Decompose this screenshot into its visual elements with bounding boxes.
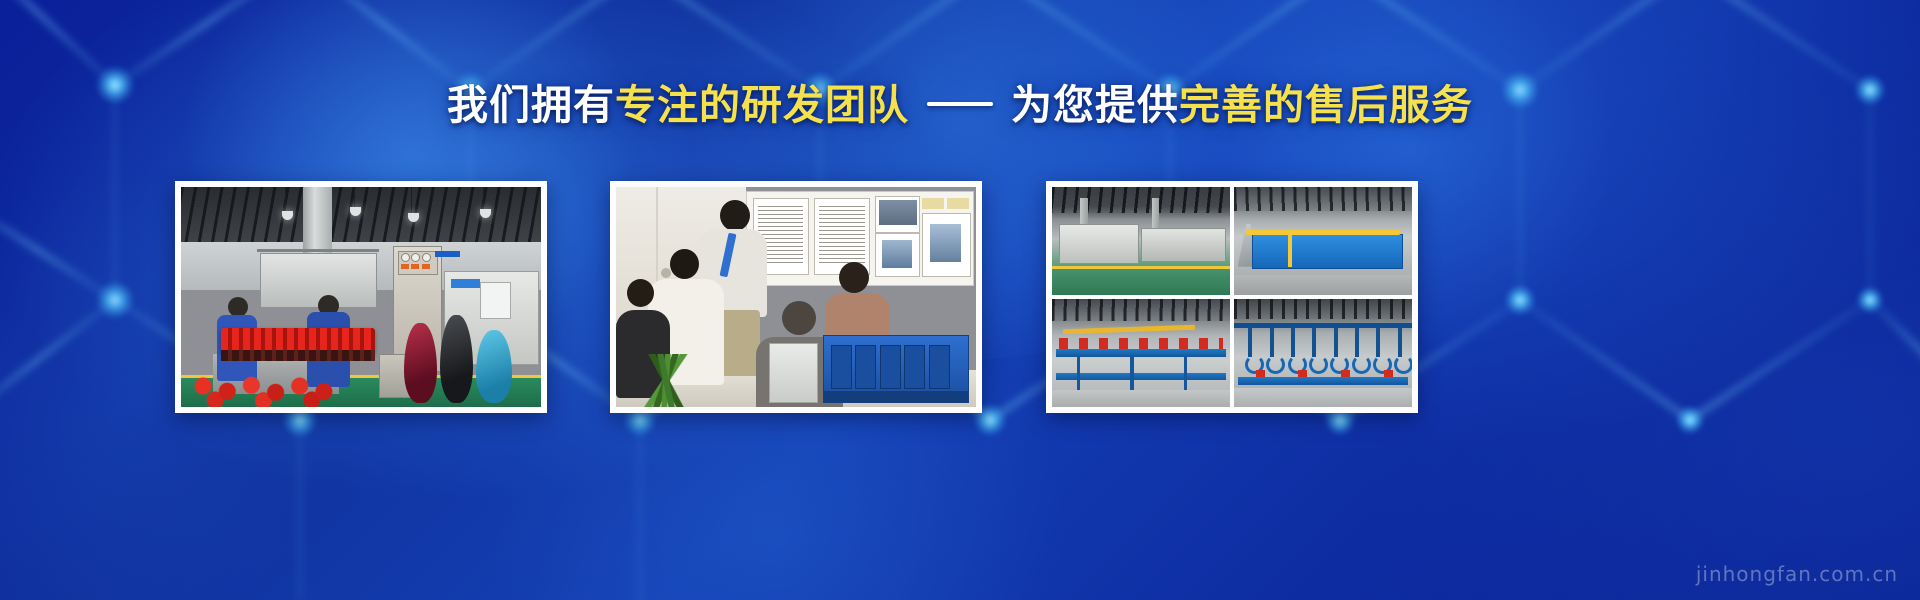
- yellow-pipe: [1245, 230, 1401, 235]
- conveyor-leg: [1130, 357, 1134, 394]
- photo-card-team-meeting: [610, 181, 982, 413]
- blue-process-tank: [1252, 234, 1403, 268]
- pane-hanging-racks: [1234, 299, 1412, 407]
- roof-truss: [1052, 187, 1230, 213]
- roof-truss: [1234, 187, 1412, 211]
- hanger-rod: [1312, 327, 1316, 357]
- poster-badge: [922, 198, 944, 209]
- conveyor-rail: [1238, 377, 1409, 386]
- person-head-back: [782, 301, 816, 335]
- promotional-banner: 我们拥有专注的研发团队为您提供完善的售后服务: [0, 0, 1920, 600]
- vase-sample-blue: [476, 330, 512, 403]
- pane-oven-line: [1052, 187, 1230, 295]
- yellow-pipe-riser: [1288, 230, 1292, 267]
- poster-text-lines: [819, 206, 864, 264]
- hanger-rod: [1398, 327, 1402, 357]
- photo-card-row: [0, 181, 1920, 413]
- oven-unit: [1059, 224, 1139, 265]
- diagram-figure: [882, 240, 912, 268]
- machine-bay: [831, 345, 852, 389]
- poster-photo: [879, 200, 917, 225]
- person-head-seated: [839, 262, 869, 293]
- photo-card-production-line: [175, 181, 547, 413]
- vase-sample-red: [404, 323, 436, 402]
- hook-icon: [1394, 355, 1412, 374]
- concrete-floor: [1052, 390, 1230, 407]
- conveyor-rail-upper: [1056, 349, 1227, 358]
- machine-base: [824, 391, 968, 402]
- banner-headline: 我们拥有专注的研发团队为您提供完善的售后服务: [0, 80, 1920, 131]
- diagram-figure: [930, 224, 961, 262]
- conveyor-leg: [1077, 357, 1081, 394]
- oven-unit: [1141, 228, 1227, 262]
- cabinet-label: [435, 251, 460, 258]
- oven-support-arm: [257, 249, 379, 252]
- red-spheres-pile: [188, 372, 339, 407]
- conveyor-rail-lower: [1056, 373, 1227, 381]
- pane-blue-tank: [1234, 187, 1412, 295]
- indicator-light: [422, 264, 430, 269]
- poster-diagram: [922, 213, 971, 277]
- hanger-rod: [1270, 327, 1274, 357]
- hook-icon: [1309, 355, 1328, 374]
- indicator-light: [411, 264, 419, 269]
- concrete-floor: [1234, 388, 1412, 407]
- headline-segment-4: 为您提供: [1011, 82, 1179, 128]
- green-floor: [1052, 267, 1230, 295]
- headline-segment-1: 我们拥有: [447, 82, 615, 128]
- pane-conveyor: [1052, 299, 1230, 407]
- hanger-rod: [1334, 327, 1338, 357]
- machine-bay: [880, 345, 901, 389]
- roof-truss: [1052, 299, 1230, 321]
- lamp-stem: [411, 187, 412, 213]
- hanger-rod: [1291, 327, 1295, 357]
- foreground-plant: [620, 354, 714, 407]
- overhead-beam: [1234, 323, 1412, 328]
- person-head-seated: [627, 279, 654, 307]
- machine-bay: [904, 345, 925, 389]
- lamp-stem: [354, 187, 355, 207]
- equipment-banner: [451, 279, 480, 288]
- photo-equipment-composite: [1052, 187, 1412, 407]
- blue-machine-photo: [823, 335, 969, 403]
- poster-badge: [947, 198, 969, 209]
- poster-image: [875, 196, 920, 233]
- parts-holder-row: [221, 350, 376, 361]
- lamp-stem: [483, 187, 484, 209]
- photo-card-equipment-composite: [1046, 181, 1418, 413]
- hanger-rod: [1355, 327, 1359, 357]
- vase-sample-black: [440, 315, 472, 403]
- person-head-seated: [670, 249, 699, 279]
- indicator-light: [401, 264, 409, 269]
- site-watermark: jinhongfan.com.cn: [1696, 562, 1898, 586]
- roof-truss: [1234, 299, 1412, 318]
- red-parts-on-line: [1059, 338, 1223, 349]
- headline-segment-5: 完善的售后服务: [1179, 82, 1473, 128]
- lamp-stem: [285, 187, 286, 211]
- headline-dash-divider: [927, 102, 993, 106]
- hook-icon: [1352, 355, 1371, 374]
- composite-divider-horizontal: [1052, 295, 1412, 299]
- poster-diagram: [875, 233, 920, 277]
- hanger-rod: [1376, 327, 1380, 357]
- floor-safety-line: [1052, 266, 1230, 269]
- photo-production-line: [181, 187, 541, 407]
- machine-bay: [929, 345, 950, 389]
- headline-segment-2: 专注的研发团队: [615, 82, 909, 128]
- machine-bay: [855, 345, 876, 389]
- hanger-rod: [1248, 327, 1252, 357]
- conveyor-leg: [1184, 357, 1188, 394]
- equipment-sign: [480, 282, 511, 319]
- photo-team-meeting: [616, 187, 976, 407]
- concrete-floor: [1234, 275, 1412, 294]
- equipment-control-box: [769, 343, 818, 402]
